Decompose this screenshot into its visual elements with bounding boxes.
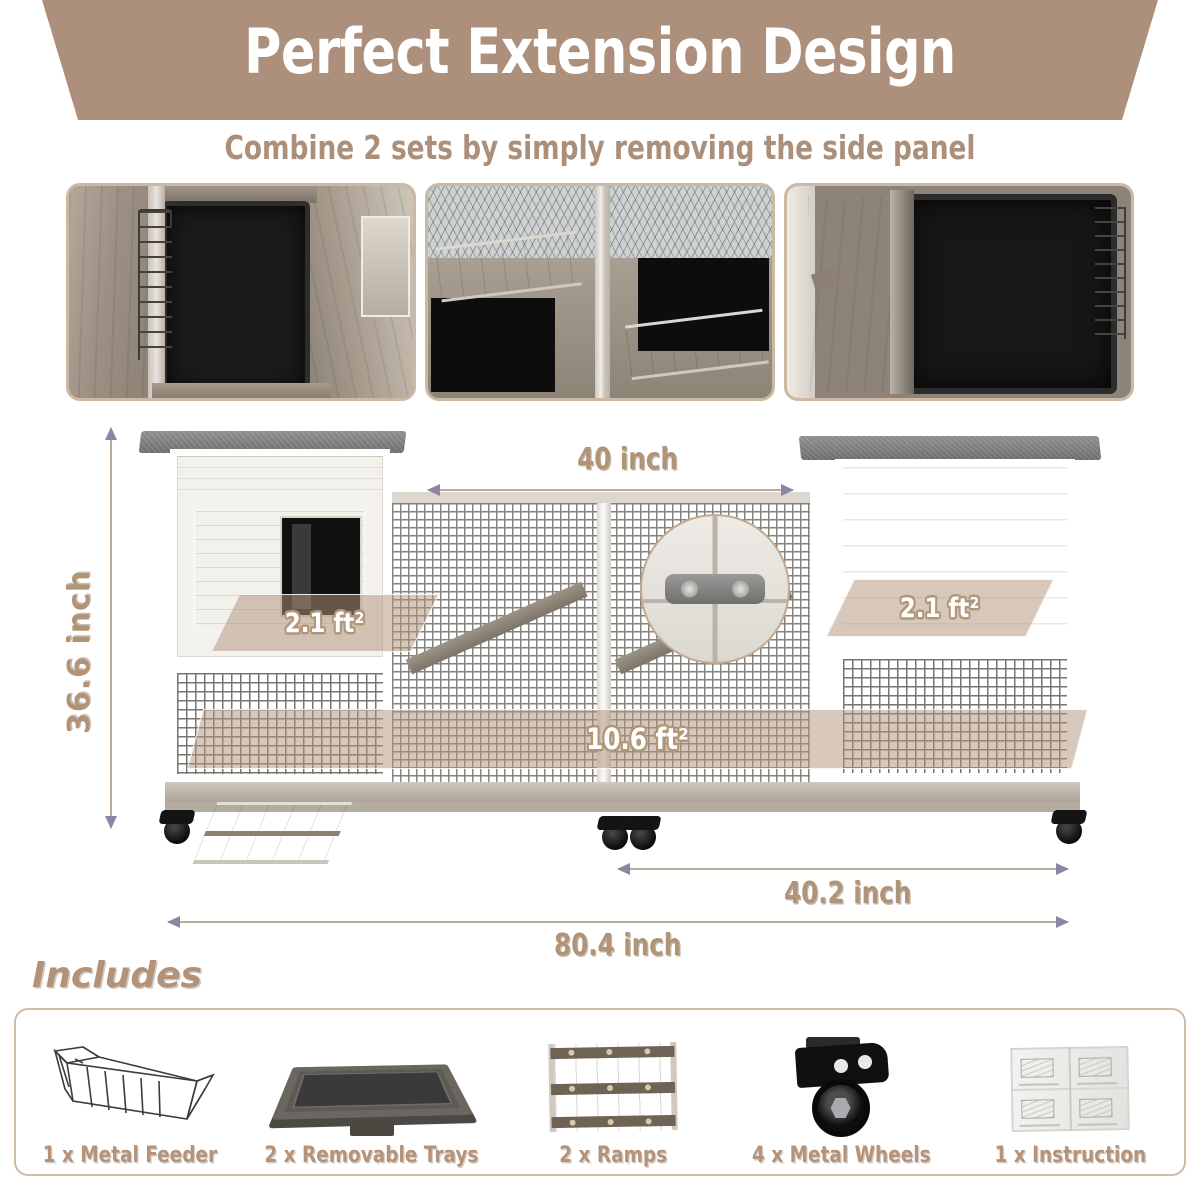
dimension-label-height: 36.6 inch xyxy=(62,570,97,734)
metal-feeder-icon xyxy=(16,1031,244,1143)
center-divider-post xyxy=(595,186,610,398)
black-tray xyxy=(904,194,1117,393)
page-title: Perfect Extension Design xyxy=(108,16,1092,88)
external-ramp xyxy=(192,802,352,864)
instruction-step xyxy=(1069,1047,1128,1089)
include-label-removable-trays: 2 x Removable Trays xyxy=(265,1143,479,1174)
includes-box: 1 x Metal Feeder 2 x Removable Trays xyxy=(14,1008,1186,1176)
caster-wheel-front-left xyxy=(160,810,194,844)
roof-right xyxy=(799,436,1102,460)
tray-handle xyxy=(350,1123,394,1136)
dimension-arrow-total-width xyxy=(168,921,1068,923)
page-subtitle: Combine 2 sets by simply removing the si… xyxy=(120,128,1080,167)
removable-tray-icon xyxy=(244,1031,499,1143)
dimension-label-right-span: 40.2 inch xyxy=(784,876,911,911)
floor-strip xyxy=(152,383,331,398)
dimension-label-total-width: 80.4 inch xyxy=(554,928,681,963)
door-brace xyxy=(811,268,838,292)
includes-heading: Includes xyxy=(32,955,202,996)
dimension-arrow-right-span xyxy=(618,868,1068,870)
caster-wheel-front-right xyxy=(1052,810,1086,844)
ramp-body xyxy=(549,1042,679,1132)
screw-left-icon xyxy=(681,581,698,598)
include-item-removable-trays: 2 x Removable Trays xyxy=(244,1010,499,1174)
screw-right-icon xyxy=(732,581,749,598)
include-item-metal-feeder: 1 x Metal Feeder xyxy=(16,1010,244,1174)
open-door-panel xyxy=(808,197,897,392)
ramp-icon xyxy=(499,1031,727,1143)
hex-nut-icon xyxy=(831,1098,851,1118)
photo-interior-right-tray-open-door xyxy=(784,183,1134,401)
wire-feeder-rack xyxy=(1095,207,1126,338)
area-overlay-floor: 10.6 ft² xyxy=(187,709,1088,769)
side-door xyxy=(361,216,409,318)
instruction-step xyxy=(1070,1088,1129,1130)
rivet-icon xyxy=(858,1055,872,1069)
wheel-tire xyxy=(812,1079,870,1137)
area-label-floor: 10.6 ft² xyxy=(586,722,689,756)
include-item-ramps: 2 x Ramps xyxy=(499,1010,727,1174)
wire-feeder-rack-top xyxy=(138,209,172,228)
include-label-ramps: 2 x Ramps xyxy=(559,1143,667,1174)
area-overlay-right-platform: 2.1 ft² xyxy=(826,579,1054,637)
area-overlay-left-platform: 2.1 ft² xyxy=(211,594,439,652)
photo-strip xyxy=(66,183,1134,401)
instruction-sheet-icon xyxy=(956,1031,1184,1143)
include-item-instruction: 1 x Instruction xyxy=(956,1010,1184,1174)
siding-panel xyxy=(177,456,383,500)
include-label-metal-wheels: 4 x Metal Wheels xyxy=(752,1143,931,1174)
photo-interior-left-tray-and-feeder xyxy=(66,183,416,401)
dimension-arrow-top-span xyxy=(428,489,793,491)
metal-latch-plate xyxy=(665,574,764,603)
black-tray xyxy=(162,201,310,396)
wire-feeder-rack xyxy=(138,211,172,359)
include-label-instruction: 1 x Instruction xyxy=(994,1143,1146,1174)
door-gap xyxy=(890,190,914,394)
rivet-icon xyxy=(834,1059,848,1073)
caster-wheel-center-right xyxy=(626,816,660,850)
instruction-sheet xyxy=(1010,1046,1129,1132)
tray-body xyxy=(271,1064,473,1119)
area-label-left: 2.1 ft² xyxy=(285,608,365,639)
black-tray-left xyxy=(431,298,555,391)
product-diagram: 2.1 ft² 2.1 ft² 10.6 ft² 40 inch 36.6 in… xyxy=(0,404,1200,964)
ramp-crossbar xyxy=(204,831,341,836)
dimension-arrow-height xyxy=(110,428,112,828)
tray-inner-surface xyxy=(291,1071,452,1108)
photo-two-hutches-joined-with-ramps xyxy=(425,183,775,401)
latch-plate-callout xyxy=(640,514,790,664)
dimension-label-top-span: 40 inch xyxy=(577,442,678,477)
instruction-step xyxy=(1012,1089,1071,1131)
instruction-step xyxy=(1011,1048,1070,1090)
include-item-metal-wheels: 4 x Metal Wheels xyxy=(727,1010,955,1174)
caster-assembly xyxy=(782,1037,902,1137)
area-label-right: 2.1 ft² xyxy=(900,593,980,624)
metal-wheel-icon xyxy=(727,1031,955,1143)
include-label-metal-feeder: 1 x Metal Feeder xyxy=(43,1143,217,1174)
